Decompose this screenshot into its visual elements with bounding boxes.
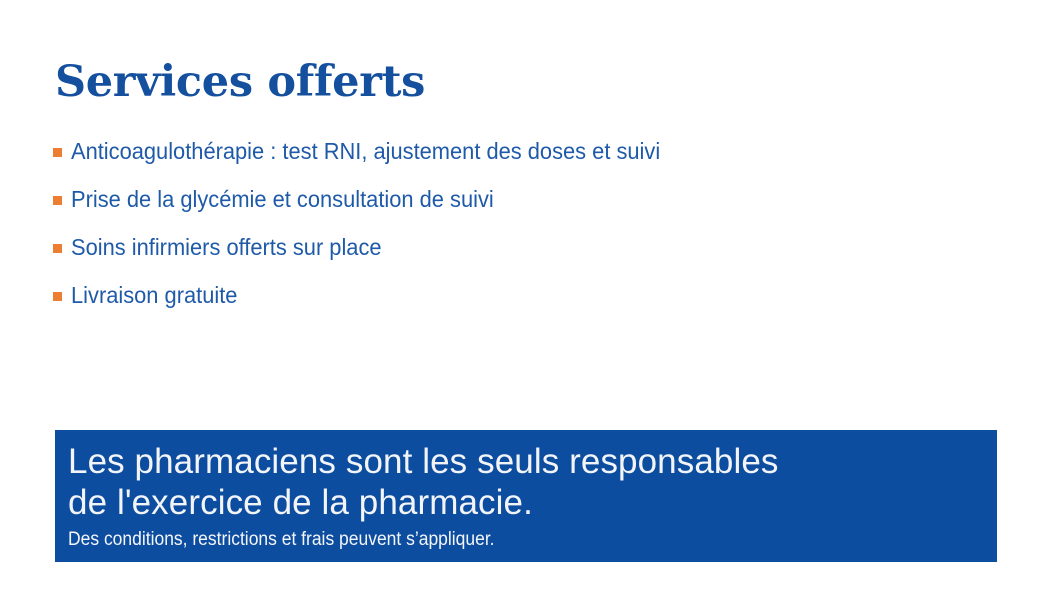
list-item: Prise de la glycémie et consultation de …	[53, 186, 953, 234]
disclaimer-headline-line-2: de l'exercice de la pharmacie.	[68, 482, 997, 523]
list-item-label: Livraison gratuite	[71, 282, 237, 309]
list-item: Anticoagulothérapie : test RNI, ajusteme…	[53, 138, 953, 186]
square-bullet-icon	[53, 292, 62, 301]
list-item-label: Soins infirmiers offerts sur place	[71, 234, 382, 261]
disclaimer-subtitle: Des conditions, restrictions et frais pe…	[68, 527, 923, 553]
square-bullet-icon	[53, 196, 62, 205]
page-title: Services offerts	[55, 59, 425, 105]
list-item: Livraison gratuite	[53, 282, 953, 330]
square-bullet-icon	[53, 148, 62, 157]
disclaimer-headline-line-1: Les pharmaciens sont les seuls responsab…	[68, 441, 997, 482]
services-bullet-list: Anticoagulothérapie : test RNI, ajusteme…	[53, 138, 953, 330]
list-item: Soins infirmiers offerts sur place	[53, 234, 953, 282]
square-bullet-icon	[53, 244, 62, 253]
disclaimer-banner: Les pharmaciens sont les seuls responsab…	[55, 430, 997, 562]
slide-canvas: Services offerts Anticoagulothérapie : t…	[0, 0, 1050, 600]
list-item-label: Prise de la glycémie et consultation de …	[71, 186, 494, 213]
list-item-label: Anticoagulothérapie : test RNI, ajusteme…	[71, 138, 660, 165]
